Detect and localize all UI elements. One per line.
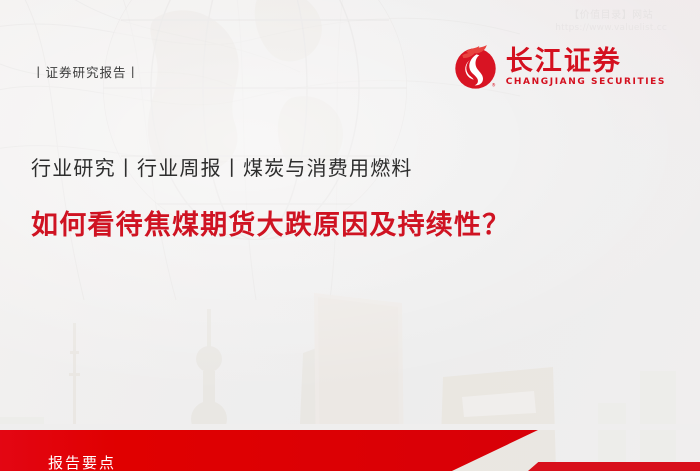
watermark-line-1: 【价值目录】网站 — [555, 10, 667, 23]
watermark-line-2: https://www.valuelist.cc — [555, 23, 667, 34]
report-subtitle: 行业研究丨行业周报丨煤炭与消费用燃料 — [31, 152, 413, 181]
logo-english-name: CHANGJIANG SECURITIES — [506, 78, 666, 87]
footer-banner-label: 报告要点 — [48, 452, 116, 471]
footer-banner-right — [528, 462, 700, 471]
report-kicker: 丨证券研究报告丨 — [32, 62, 140, 81]
report-title: 如何看待焦煤期货大跌原因及持续性？ — [31, 203, 510, 242]
site-watermark: 【价值目录】网站 https://www.valuelist.cc — [555, 10, 667, 34]
svg-text:®: ® — [491, 82, 495, 87]
brand-logo: ® 长江证券 CHANGJIANG SECURITIES — [452, 44, 666, 91]
changjiang-phoenix-icon: ® — [452, 44, 499, 91]
banner-gap — [0, 424, 700, 430]
logo-chinese-name: 长江证券 — [506, 48, 666, 76]
report-cover-slide: 【价值目录】网站 https://www.valuelist.cc 丨证券研究报… — [0, 0, 700, 471]
